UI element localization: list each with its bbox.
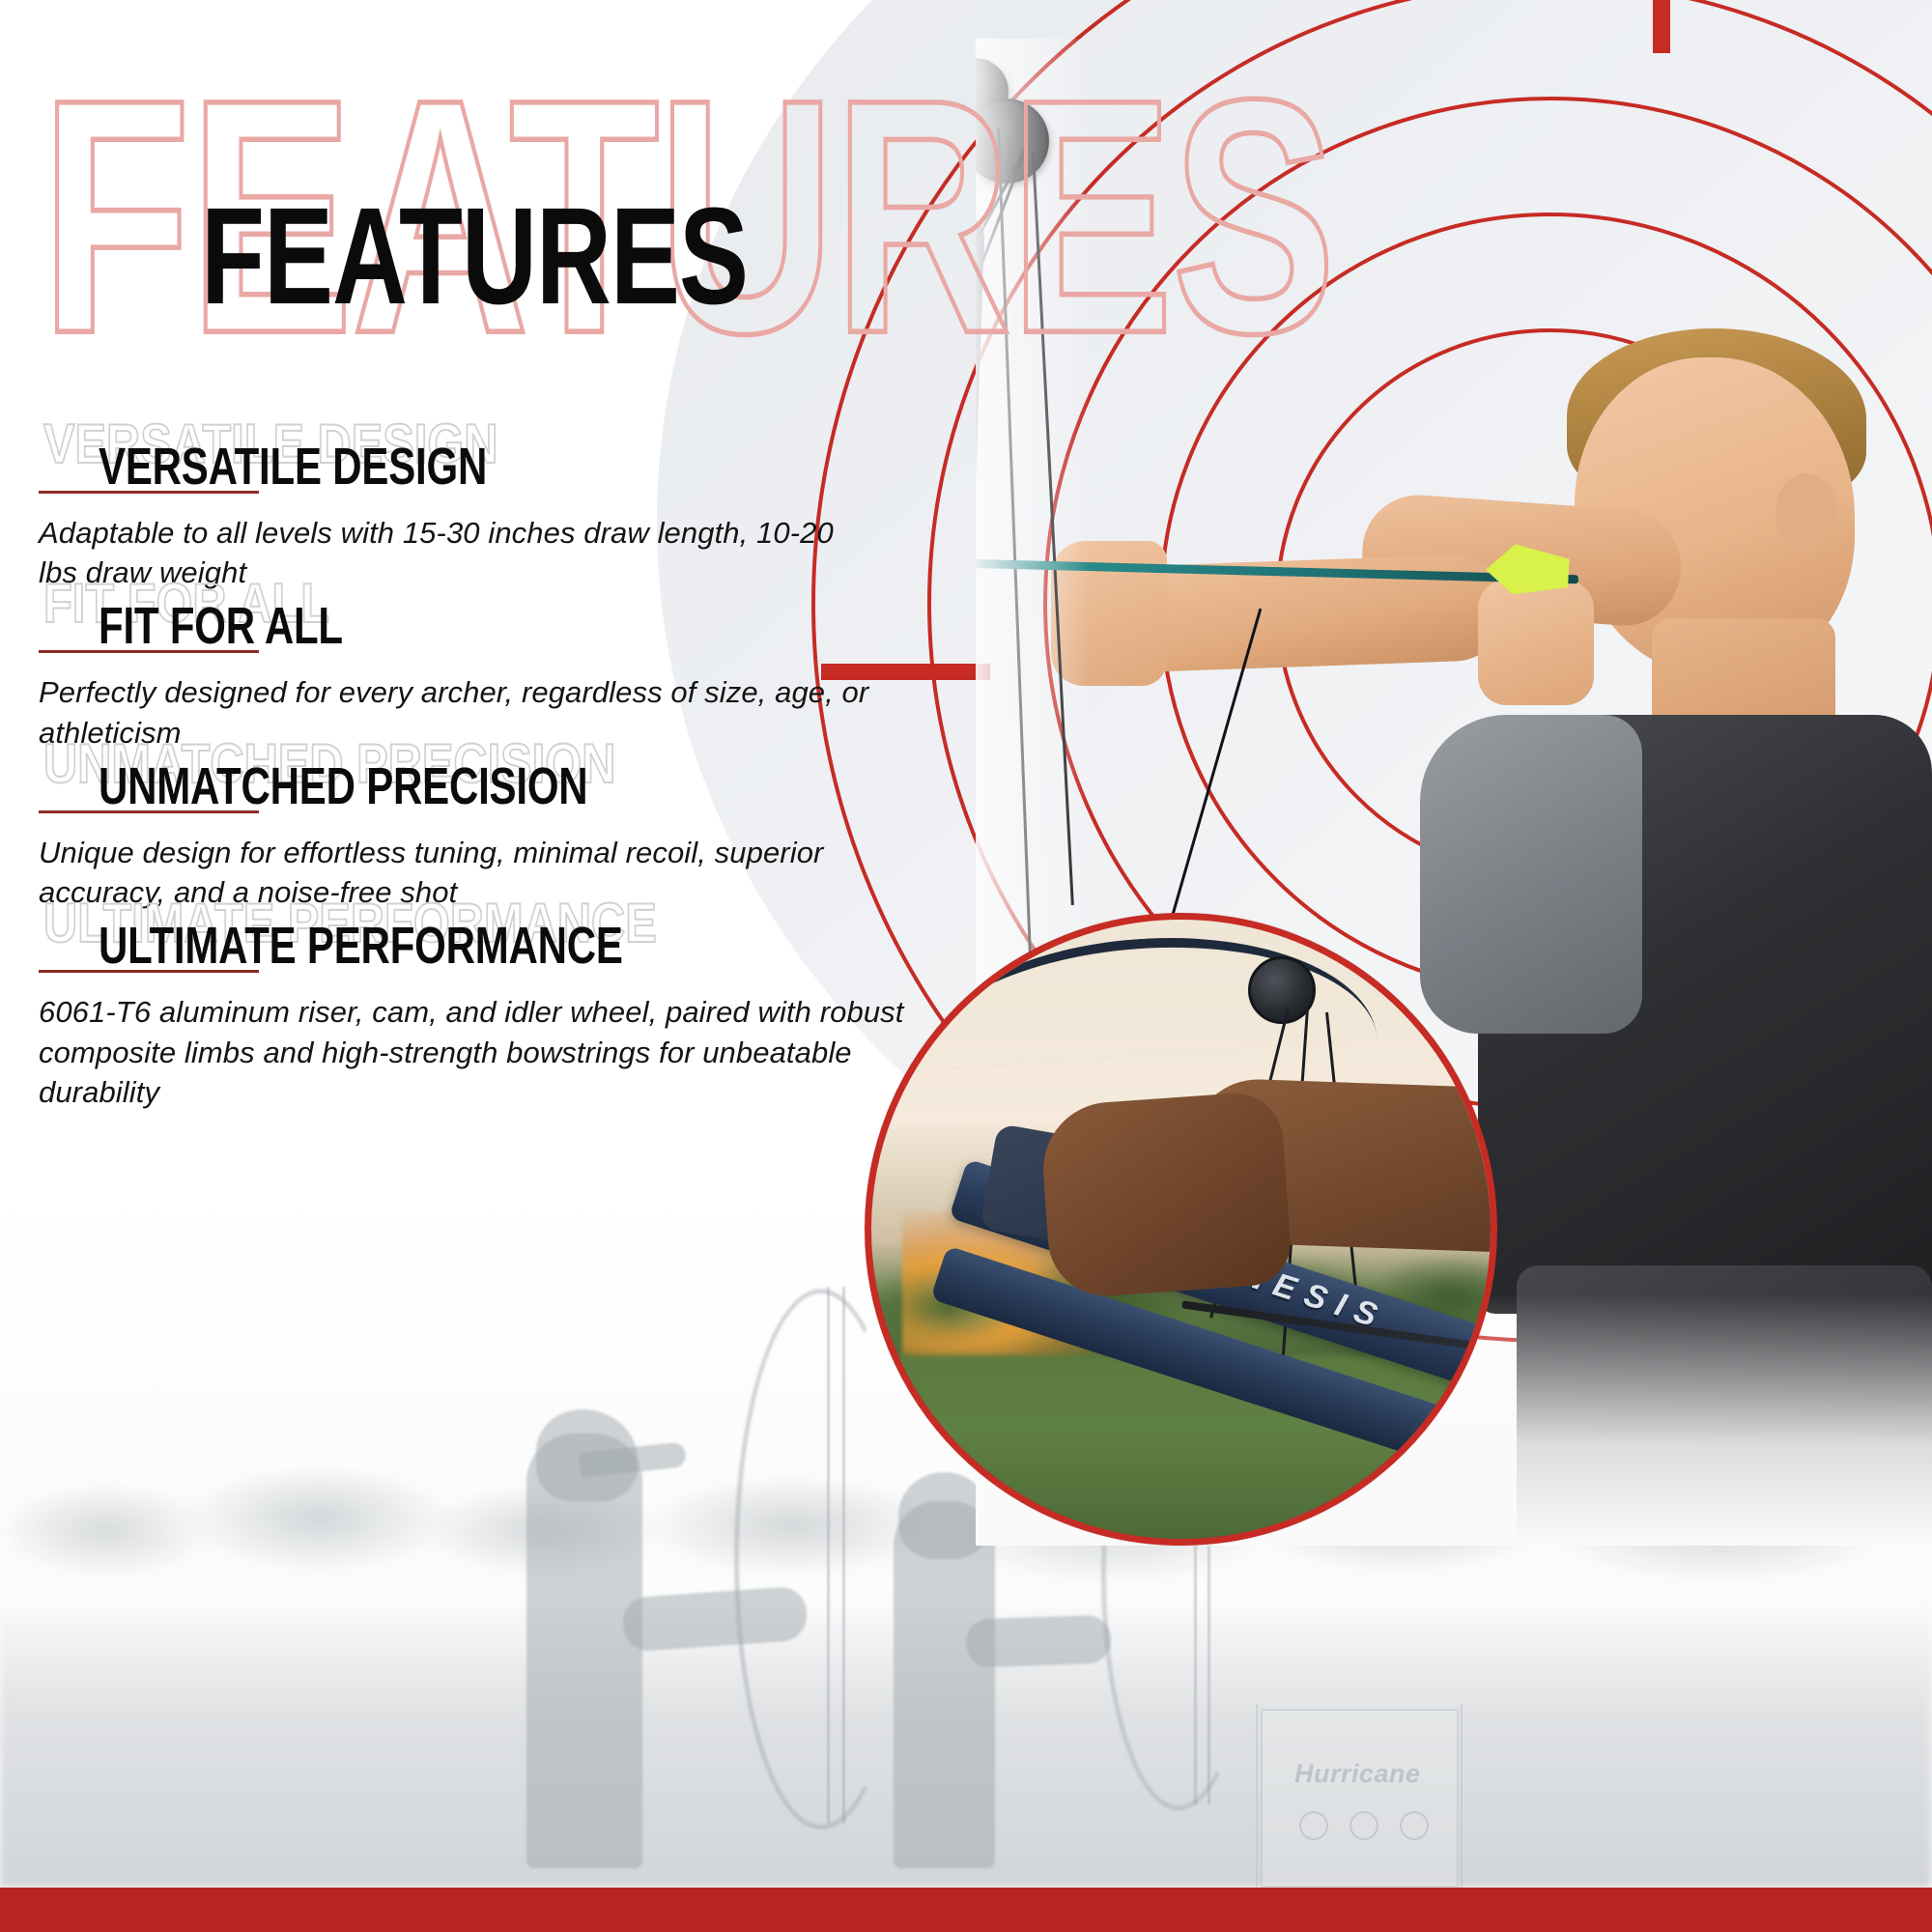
inset-circle-photo: GENESIS GENESIS	[865, 913, 1497, 1546]
feature-item: FIT FOR ALL FIT FOR ALL Perfectly design…	[39, 575, 908, 697]
archer-draw-hand	[1478, 580, 1594, 705]
feature-heading: ULTIMATE PERFORMANCE	[99, 920, 623, 972]
archer-ear	[1776, 473, 1837, 553]
archer-sleeve	[1420, 715, 1642, 1034]
features-list: VERSATILE DESIGN VERSATILE DESIGN Adapta…	[39, 415, 908, 1094]
bottom-accent-bar	[0, 1888, 1932, 1932]
hurricane-ring-icon	[1400, 1811, 1429, 1840]
silhouette-bowstring	[827, 1287, 830, 1824]
hurricane-target-rings	[1299, 1811, 1429, 1840]
feature-underline	[39, 491, 259, 494]
feature-underline	[39, 810, 259, 813]
feature-item: UNMATCHED PRECISION UNMATCHED PRECISION …	[39, 735, 908, 858]
feature-item: ULTIMATE PERFORMANCE ULTIMATE PERFORMANC…	[39, 895, 908, 1058]
inset-gripping-hand	[1038, 1091, 1293, 1300]
features-page: Hurricane GENESIS	[0, 0, 1932, 1932]
page-title: FEATURES	[201, 176, 748, 335]
feature-item: VERSATILE DESIGN VERSATILE DESIGN Adapta…	[39, 415, 908, 538]
target-stand-leg-left	[1256, 1704, 1258, 1888]
archer-silhouette-right-arm	[965, 1614, 1112, 1667]
hurricane-target-label: Hurricane	[1294, 1759, 1439, 1789]
hurricane-target-box	[1261, 1709, 1459, 1888]
hurricane-ring-icon	[1299, 1811, 1328, 1840]
silhouette-bowstring	[842, 1287, 845, 1824]
feature-heading: VERSATILE DESIGN	[99, 440, 487, 493]
feature-underline	[39, 650, 259, 653]
feature-heading: UNMATCHED PRECISION	[99, 760, 587, 812]
feature-body: 6061-T6 aluminum riser, cam, and idler w…	[39, 992, 908, 1112]
hurricane-ring-icon	[1350, 1811, 1378, 1840]
feature-heading: FIT FOR ALL	[99, 600, 343, 652]
target-stand-leg-right	[1461, 1704, 1463, 1888]
feature-underline	[39, 970, 259, 973]
